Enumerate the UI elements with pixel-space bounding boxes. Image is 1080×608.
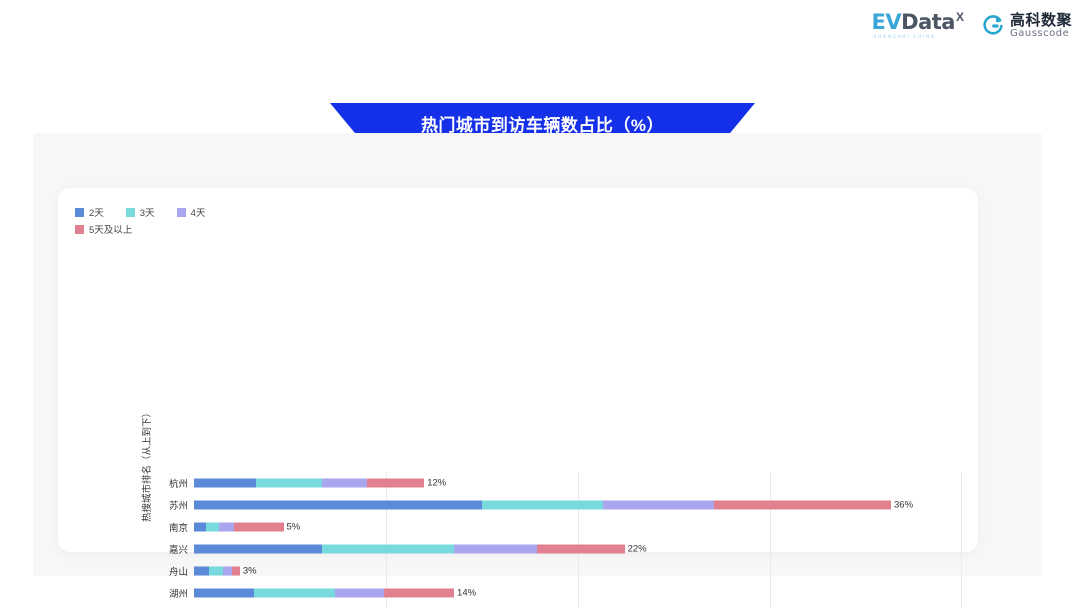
evdata-superscript-x-icon: X (956, 10, 964, 24)
evdata-logo-prefix: EV (872, 12, 902, 33)
evdata-logo: EVDataX SHANGHAI CHINA (872, 12, 964, 40)
chart-row[interactable]: 南京5% (194, 516, 1004, 538)
chart-row[interactable]: 湖州14% (194, 582, 1004, 604)
chart-row[interactable]: 苏州36% (194, 494, 1004, 516)
bar-segment-1[interactable] (482, 501, 604, 510)
stacked-bar[interactable] (194, 501, 891, 510)
gausscode-logo: 高科数聚 Gausscode (982, 13, 1072, 39)
stacked-bar[interactable] (194, 523, 284, 532)
bar-segment-2[interactable] (335, 589, 384, 598)
header-logos: EVDataX SHANGHAI CHINA 高科数聚 Gausscode (872, 12, 1072, 40)
bar-segment-1[interactable] (256, 479, 322, 488)
bar-segment-0[interactable] (194, 589, 254, 598)
chart-row[interactable]: 杭州12% (194, 472, 1004, 494)
bar-value-label: 22% (625, 544, 647, 555)
y-axis-tick-label: 杭州 (169, 476, 188, 490)
slide-root: EVDataX SHANGHAI CHINA 高科数聚 Gausscode 热门… (0, 0, 1080, 608)
bar-segment-2[interactable] (219, 523, 235, 532)
gausscode-text: 高科数聚 Gausscode (1010, 13, 1072, 39)
evdata-logo-suffix: Data (901, 12, 955, 33)
y-axis-tick-label: 湖州 (169, 586, 188, 600)
bar-segment-2[interactable] (454, 545, 537, 554)
gausscode-name-en: Gausscode (1010, 29, 1072, 40)
chart-row[interactable]: 无锡12% (194, 604, 1004, 608)
bar-segment-0[interactable] (194, 545, 322, 554)
bar-value-label: 14% (454, 588, 476, 599)
bar-segment-3[interactable] (537, 545, 624, 554)
y-axis-tick-label: 嘉兴 (169, 542, 188, 556)
bar-segment-0[interactable] (194, 567, 209, 576)
y-axis-title: 热搜城市排名（从上到下） (139, 506, 153, 522)
bar-value-label: 5% (284, 522, 301, 533)
stacked-bar[interactable] (194, 567, 240, 576)
evdata-wordmark: EVDataX (872, 12, 964, 33)
stacked-bar[interactable] (194, 589, 454, 598)
bar-value-label: 3% (240, 566, 257, 577)
bar-segment-0[interactable] (194, 523, 206, 532)
bar-segment-2[interactable] (322, 479, 367, 488)
stacked-bar[interactable] (194, 545, 625, 554)
y-axis-tick-label: 舟山 (169, 564, 188, 578)
bar-segment-3[interactable] (234, 523, 283, 532)
y-axis-tick-label: 南京 (169, 520, 188, 534)
chart-row[interactable]: 舟山3% (194, 560, 1004, 582)
bar-segment-1[interactable] (206, 523, 219, 532)
bar-segment-0[interactable] (194, 501, 482, 510)
bar-segment-3[interactable] (714, 501, 891, 510)
bar-segment-2[interactable] (603, 501, 714, 510)
chart-row[interactable]: 嘉兴22% (194, 538, 1004, 560)
bar-value-label: 12% (424, 478, 446, 489)
stacked-bar-chart: 热搜城市排名（从上到下） 杭州12%苏州36%南京5%嘉兴22%舟山3%湖州14… (58, 188, 978, 552)
bar-segment-2[interactable] (223, 567, 233, 576)
bar-segment-1[interactable] (209, 567, 223, 576)
bar-value-label: 36% (891, 500, 913, 511)
bar-segment-3[interactable] (384, 589, 454, 598)
bar-segment-3[interactable] (367, 479, 425, 488)
bar-segment-1[interactable] (322, 545, 454, 554)
evdata-tagline: SHANGHAI CHINA (874, 35, 936, 40)
y-axis-tick-label: 苏州 (169, 498, 188, 512)
bar-segment-1[interactable] (254, 589, 335, 598)
stacked-bar[interactable] (194, 479, 424, 488)
plot-area: 杭州12%苏州36%南京5%嘉兴22%舟山3%湖州14%无锡12%宁波8%绍兴9… (194, 472, 1004, 608)
gausscode-circle-icon (982, 15, 1004, 37)
bar-segment-0[interactable] (194, 479, 256, 488)
gausscode-name-cn: 高科数聚 (1010, 13, 1072, 29)
bar-segment-3[interactable] (232, 567, 239, 576)
